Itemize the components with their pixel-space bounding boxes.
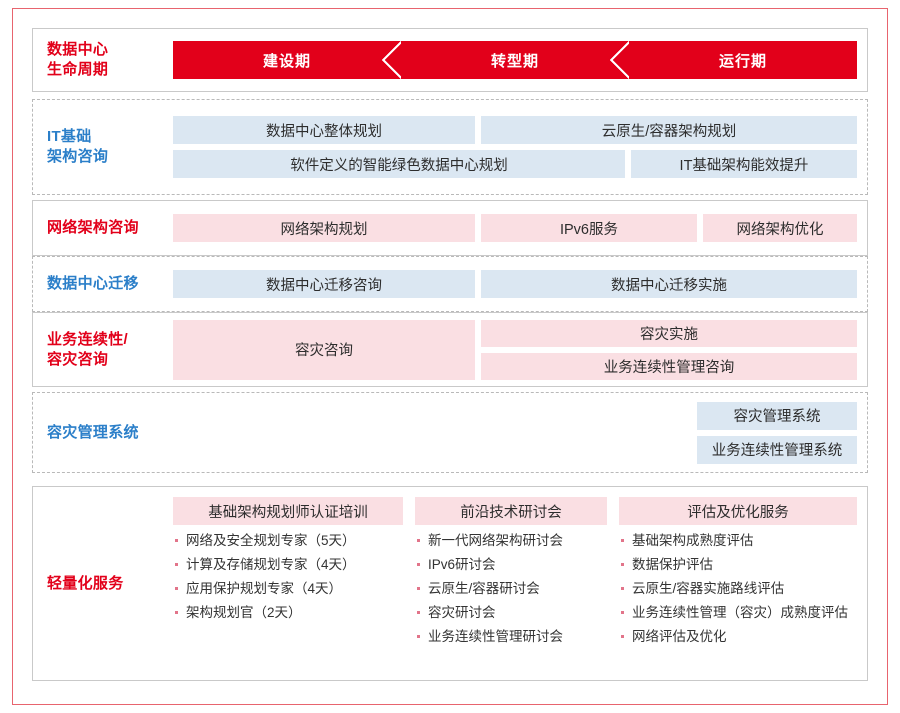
- row-label-lifecycle: 数据中心 生命周期: [47, 40, 108, 81]
- row-network-consulting: 网络架构咨询 网络架构规划 IPv6服务 网络架构优化: [32, 200, 868, 256]
- row-dr-management-system: 容灾管理系统 容灾管理系统 业务连续性管理系统: [32, 392, 868, 473]
- lifecycle-content: 建设期 转型期 运行期: [173, 29, 857, 91]
- light-services-columns: 基础架构规划师认证培训 网络及安全规划专家（5天） 计算及存储规划专家（4天） …: [173, 497, 857, 672]
- list-item: 应用保护规划专家（4天）: [173, 581, 403, 598]
- cell-dr-implementation[interactable]: 容灾实施: [481, 320, 857, 347]
- cell-cloudnative-container-planning[interactable]: 云原生/容器架构规划: [481, 116, 857, 144]
- network-consulting-content: 网络架构规划 IPv6服务 网络架构优化: [173, 201, 857, 255]
- list-item: IPv6研讨会: [415, 557, 607, 574]
- bc-right-stack: 容灾实施 业务连续性管理咨询: [481, 320, 857, 380]
- light-list-assessment: 基础架构成熟度评估 数据保护评估 云原生/容器实施路线评估 业务连续性管理（容灾…: [619, 533, 857, 652]
- row-label-network-consulting: 网络架构咨询: [47, 218, 139, 238]
- phase-transformation[interactable]: 转型期: [401, 41, 629, 79]
- light-column-header-seminars[interactable]: 前沿技术研讨会: [415, 497, 607, 525]
- list-item: 数据保护评估: [619, 557, 857, 574]
- network-band-1: 网络架构规划 IPv6服务 网络架构优化: [173, 214, 857, 242]
- cell-bcm-system[interactable]: 业务连续性管理系统: [697, 436, 857, 464]
- row-dc-migration: 数据中心迁移 数据中心迁移咨询 数据中心迁移实施: [32, 256, 868, 312]
- light-list-seminars: 新一代网络架构研讨会 IPv6研讨会 云原生/容器研讨会 容灾研讨会 业务连续性…: [415, 533, 607, 652]
- cell-dc-overall-planning[interactable]: 数据中心整体规划: [173, 116, 475, 144]
- light-column-header-assessment[interactable]: 评估及优化服务: [619, 497, 857, 525]
- it-band-1: 数据中心整体规划 云原生/容器架构规划: [173, 116, 857, 144]
- light-column-assessment: 评估及优化服务 基础架构成熟度评估 数据保护评估 云原生/容器实施路线评估 业务…: [619, 497, 857, 672]
- drm-right-stack: 容灾管理系统 业务连续性管理系统: [697, 402, 857, 464]
- list-item: 计算及存储规划专家（4天）: [173, 557, 403, 574]
- cell-network-arch-optimization[interactable]: 网络架构优化: [703, 214, 857, 242]
- row-label-it-consulting: IT基础 架构咨询: [47, 127, 108, 168]
- list-item: 云原生/容器研讨会: [415, 581, 607, 598]
- cell-it-infra-efficiency[interactable]: IT基础架构能效提升: [631, 150, 857, 178]
- row-label-business-continuity: 业务连续性/ 容灾咨询: [47, 329, 128, 370]
- row-lifecycle: 数据中心 生命周期 建设期 转型期 运行期: [32, 28, 868, 92]
- cell-sddc-green-planning[interactable]: 软件定义的智能绿色数据中心规划: [173, 150, 625, 178]
- row-it-consulting: IT基础 架构咨询 数据中心整体规划 云原生/容器架构规划 软件定义的智能绿色数…: [32, 99, 868, 195]
- migration-band-1: 数据中心迁移咨询 数据中心迁移实施: [173, 270, 857, 298]
- list-item: 架构规划官（2天）: [173, 605, 403, 622]
- lifecycle-arrow-bar: 建设期 转型期 运行期: [173, 41, 857, 79]
- dr-management-content: 容灾管理系统 业务连续性管理系统: [173, 393, 857, 472]
- it-consulting-content: 数据中心整体规划 云原生/容器架构规划 软件定义的智能绿色数据中心规划 IT基础…: [173, 100, 857, 194]
- phase-construction[interactable]: 建设期: [173, 41, 401, 79]
- bc-band: 容灾咨询 容灾实施 业务连续性管理咨询: [173, 320, 857, 380]
- business-continuity-content: 容灾咨询 容灾实施 业务连续性管理咨询: [173, 313, 857, 386]
- light-column-seminars: 前沿技术研讨会 新一代网络架构研讨会 IPv6研讨会 云原生/容器研讨会 容灾研…: [415, 497, 607, 672]
- cell-network-arch-planning[interactable]: 网络架构规划: [173, 214, 475, 242]
- phase-operation[interactable]: 运行期: [629, 41, 857, 79]
- list-item: 容灾研讨会: [415, 605, 607, 622]
- list-item: 基础架构成熟度评估: [619, 533, 857, 550]
- it-band-2: 软件定义的智能绿色数据中心规划 IT基础架构能效提升: [173, 150, 857, 178]
- list-item: 业务连续性管理（容灾）成熟度评估: [619, 605, 857, 622]
- light-column-training: 基础架构规划师认证培训 网络及安全规划专家（5天） 计算及存储规划专家（4天） …: [173, 497, 403, 672]
- list-item: 业务连续性管理研讨会: [415, 629, 607, 646]
- cell-dr-consulting[interactable]: 容灾咨询: [173, 320, 475, 380]
- cell-ipv6-service[interactable]: IPv6服务: [481, 214, 697, 242]
- list-item: 新一代网络架构研讨会: [415, 533, 607, 550]
- cell-bcm-consulting[interactable]: 业务连续性管理咨询: [481, 353, 857, 380]
- lifecycle-service-diagram: 数据中心 生命周期 建设期 转型期 运行期 IT基础 架构咨询 数据中心整体规划…: [0, 0, 900, 713]
- list-item: 网络及安全规划专家（5天）: [173, 533, 403, 550]
- list-item: 云原生/容器实施路线评估: [619, 581, 857, 598]
- drm-band: 容灾管理系统 业务连续性管理系统: [173, 402, 857, 464]
- row-label-dc-migration: 数据中心迁移: [47, 274, 139, 294]
- row-label-light-services: 轻量化服务: [47, 573, 124, 593]
- cell-dc-migration-consulting[interactable]: 数据中心迁移咨询: [173, 270, 475, 298]
- cell-dc-migration-implementation[interactable]: 数据中心迁移实施: [481, 270, 857, 298]
- cell-dr-management-system[interactable]: 容灾管理系统: [697, 402, 857, 430]
- drm-spacer: [173, 402, 691, 430]
- row-light-services: 轻量化服务 基础架构规划师认证培训 网络及安全规划专家（5天） 计算及存储规划专…: [32, 486, 868, 681]
- dc-migration-content: 数据中心迁移咨询 数据中心迁移实施: [173, 257, 857, 311]
- row-label-dr-management-system: 容灾管理系统: [47, 422, 139, 442]
- light-list-training: 网络及安全规划专家（5天） 计算及存储规划专家（4天） 应用保护规划专家（4天）…: [173, 533, 403, 629]
- row-business-continuity: 业务连续性/ 容灾咨询 容灾咨询 容灾实施 业务连续性管理咨询: [32, 312, 868, 387]
- list-item: 网络评估及优化: [619, 629, 857, 646]
- light-column-header-training[interactable]: 基础架构规划师认证培训: [173, 497, 403, 525]
